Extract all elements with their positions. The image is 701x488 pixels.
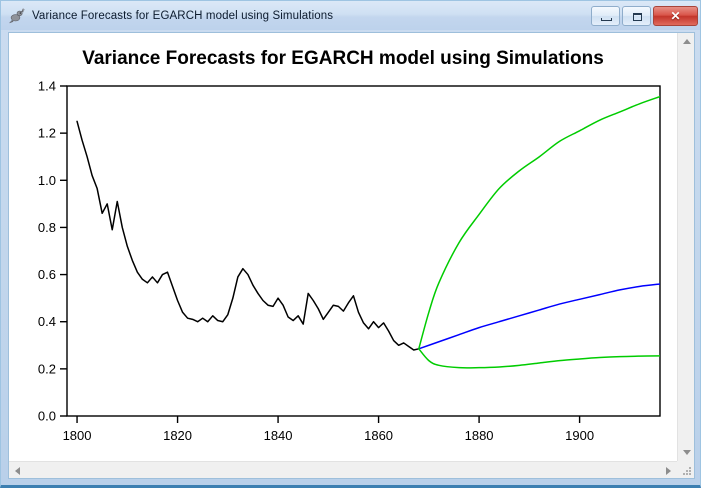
x-axis-ticks: 180018201840186018801900 (63, 416, 594, 443)
window-controls: ✕ (589, 6, 698, 26)
x-tick-label: 1820 (163, 428, 192, 443)
plot-window: Variance Forecasts for EGARCH model usin… (0, 0, 701, 488)
y-tick-label: 1.0 (38, 173, 56, 188)
chart-title: Variance Forecasts for EGARCH model usin… (82, 48, 604, 69)
y-tick-label: 1.2 (38, 126, 56, 141)
plot-canvas: Variance Forecasts for EGARCH model usin… (9, 33, 677, 461)
resize-grip-icon (683, 467, 691, 475)
chevron-down-icon (683, 450, 691, 455)
scroll-up-arrow[interactable] (678, 33, 695, 50)
series-forecast-upper-band (419, 97, 660, 349)
x-tick-label: 1800 (63, 428, 92, 443)
close-button[interactable]: ✕ (653, 6, 698, 26)
variance-forecast-chart: Variance Forecasts for EGARCH model usin… (9, 33, 677, 461)
y-tick-label: 0.8 (38, 220, 56, 235)
title-bar[interactable]: Variance Forecasts for EGARCH model usin… (1, 1, 701, 30)
client-area: Variance Forecasts for EGARCH model usin… (8, 32, 695, 479)
y-tick-label: 0.4 (38, 314, 56, 329)
close-icon: ✕ (654, 7, 697, 25)
x-tick-label: 1900 (565, 428, 594, 443)
minimize-icon (601, 18, 612, 21)
series-forecast-mean (419, 284, 660, 349)
r-graphics-device-icon (8, 7, 26, 25)
y-tick-label: 0.2 (38, 361, 56, 376)
x-tick-label: 1860 (364, 428, 393, 443)
chevron-right-icon (666, 467, 671, 475)
y-tick-label: 0.6 (38, 267, 56, 282)
window-title: Variance Forecasts for EGARCH model usin… (32, 10, 589, 22)
scroll-right-arrow[interactable] (660, 462, 677, 479)
vertical-scrollbar[interactable] (677, 33, 694, 461)
chart-series-layer (77, 97, 660, 368)
maximize-icon (633, 13, 642, 21)
y-tick-label: 0.0 (38, 409, 56, 424)
horizontal-scrollbar[interactable] (9, 461, 677, 478)
resize-corner[interactable] (677, 461, 694, 478)
maximize-button[interactable] (622, 6, 651, 26)
x-tick-label: 1880 (465, 428, 494, 443)
y-tick-label: 1.4 (38, 79, 56, 94)
series-historical-variance (77, 121, 419, 350)
minimize-button[interactable] (591, 6, 620, 26)
x-tick-label: 1840 (264, 428, 293, 443)
y-axis-ticks: 0.00.20.40.60.81.01.21.4 (38, 79, 67, 424)
series-forecast-lower-band (419, 349, 660, 368)
chevron-left-icon (15, 467, 20, 475)
scroll-down-arrow[interactable] (678, 444, 695, 461)
scroll-left-arrow[interactable] (9, 462, 26, 479)
chevron-up-icon (683, 39, 691, 44)
